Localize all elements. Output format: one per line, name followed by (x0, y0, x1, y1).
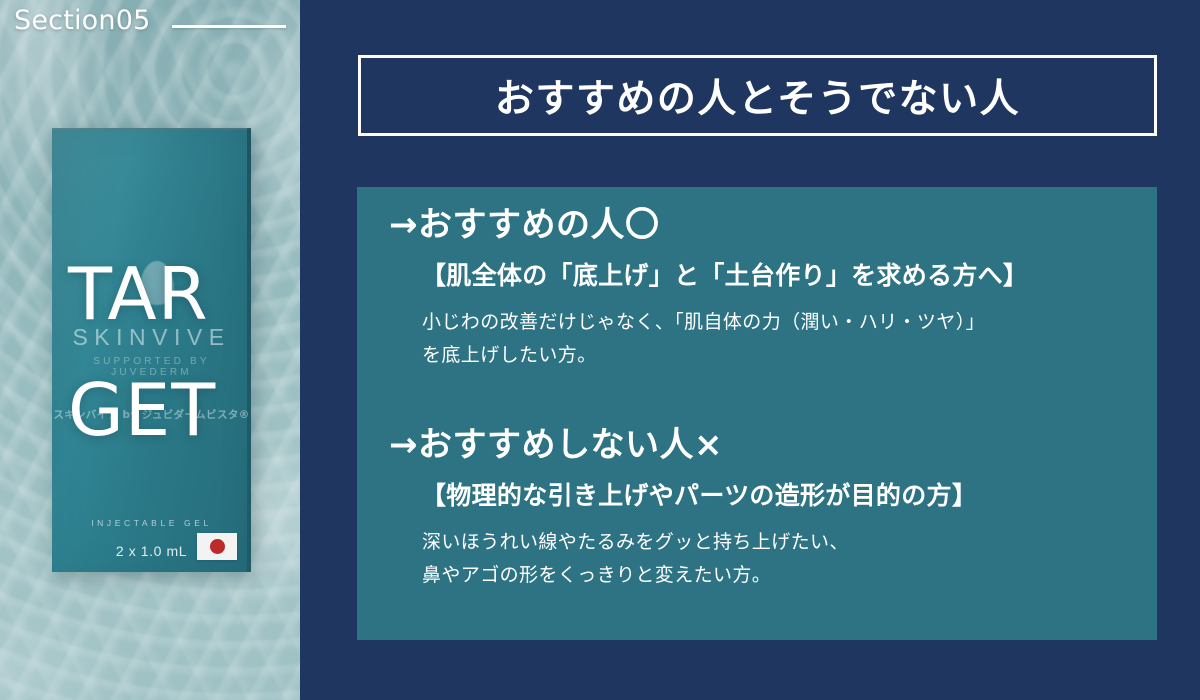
group-sub-suffix: が目的の方】 (825, 481, 977, 510)
target-overlay-line1: TAR (68, 258, 209, 330)
product-photo-panel: SKINVIVE SUPPORTED BY JUVEDERM スキンバイブ by… (0, 0, 300, 700)
target-overlay-line2: GET (68, 374, 216, 446)
slide-title-box: おすすめの人とそうでない人 (358, 55, 1157, 136)
slide-title: おすすめの人とそうでない人 (495, 68, 1020, 124)
content-group-recommended: →おすすめの人〇 【肌全体の「底上げ」と「土台作り」を求める方へ】 小じわの改善… (389, 206, 1137, 372)
group-heading: →おすすめの人〇 (389, 206, 1137, 245)
product-form-label: INJECTABLE GEL (52, 518, 251, 528)
japan-flag-dot (210, 539, 225, 554)
group-body: 深いほうれい線やたるみをグッと持ち上げたい、 鼻やアゴの形をくっきりと変えたい方… (422, 526, 1137, 593)
content-group-not-recommended: →おすすめしない人× 【物理的な引き上げやパーツの造形が目的の方】 深いほうれい… (389, 426, 1137, 592)
group-subheading: 【物理的な引き上げやパーツの造形が目的の方】 (421, 480, 1137, 513)
group-sub-prefix: 【物理的な (421, 481, 548, 510)
group-body-line: 小じわの改善だけじゃなく、「肌自体の力（潤い・ハリ・ツヤ）」 (422, 306, 1137, 339)
group-body-line: 鼻やアゴの形をくっきりと変えたい方。 (422, 559, 1137, 592)
content-panel: →おすすめの人〇 【肌全体の「底上げ」と「土台作り」を求める方へ】 小じわの改善… (357, 187, 1157, 640)
group-sub-highlight: 引き上げやパーツの造形 (548, 480, 826, 513)
product-package-box: SKINVIVE SUPPORTED BY JUVEDERM スキンバイブ by… (52, 128, 251, 572)
box-top-edge (52, 128, 251, 130)
section-rule-line (172, 25, 286, 28)
group-sub-suffix: を求める方へ】 (851, 261, 1028, 290)
group-body: 小じわの改善だけじゃなく、「肌自体の力（潤い・ハリ・ツヤ）」 を底上げしたい方。 (422, 306, 1137, 373)
group-subheading: 【肌全体の「底上げ」と「土台作り」を求める方へ】 (421, 260, 1137, 293)
group-sub-highlight: 「底上げ」と「土台作り」 (548, 260, 852, 293)
japan-flag-icon (197, 533, 237, 560)
group-heading: →おすすめしない人× (389, 426, 1137, 465)
slide-root: SKINVIVE SUPPORTED BY JUVEDERM スキンバイブ by… (0, 0, 1200, 700)
group-body-line: 深いほうれい線やたるみをグッと持ち上げたい、 (422, 526, 1137, 559)
group-body-line: を底上げしたい方。 (422, 339, 1137, 372)
section-label: Section05 (14, 5, 150, 36)
group-sub-prefix: 【肌全体の (421, 261, 548, 290)
